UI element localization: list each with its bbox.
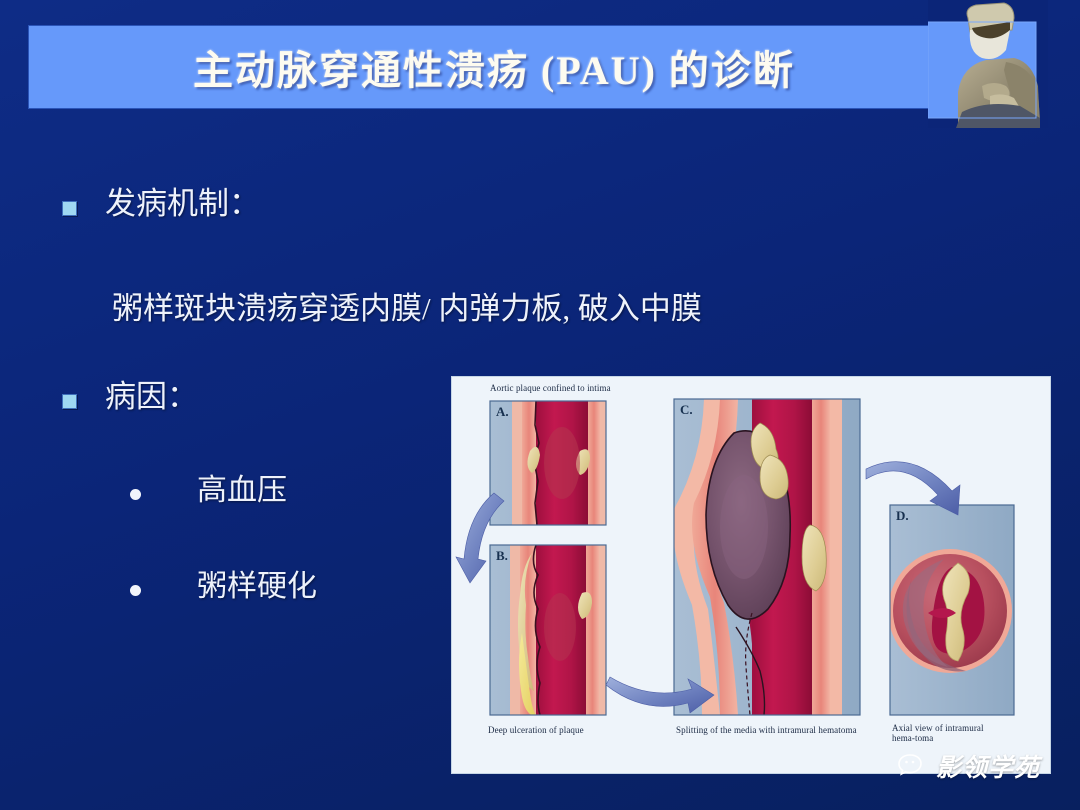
bullet-mechanism-label: 发病机制： [105, 185, 260, 224]
figure-artwork [452, 377, 1050, 773]
page-title: 主动脉穿通性溃疡 (PAU) 的诊断 [28, 25, 1030, 109]
mechanism-detail-text: 粥样斑块溃疡穿透内膜/ 内弹力板, 破入中膜 [112, 283, 702, 328]
wechat-watermark: 影领学苑 [898, 748, 1040, 784]
dot-bullet-icon [130, 585, 141, 596]
sub-bullet-atherosclerosis-label: 粥样硬化 [197, 568, 317, 606]
panel-d-caption: Axial view of intramural hema-toma [892, 723, 984, 744]
wechat-icon [898, 753, 930, 779]
panel-letter-c: C. [680, 402, 693, 418]
bullet-etiology-label: 病因： [105, 378, 198, 417]
panel-letter-a: A. [496, 404, 509, 420]
square-bullet-icon [62, 394, 77, 409]
panel-letter-b: B. [496, 548, 508, 564]
panel-b-caption: Deep ulceration of plaque [488, 725, 584, 735]
sub-bullet-hypertension-label: 高血压 [197, 472, 287, 510]
sub-bullet-hypertension: 高血压 [130, 472, 287, 510]
bullet-mechanism: 发病机制： [62, 185, 260, 224]
pau-illustration-figure: Aortic plaque confined to intima [452, 377, 1050, 773]
sub-bullet-atherosclerosis: 粥样硬化 [130, 568, 317, 606]
bullet-etiology: 病因： [62, 378, 198, 417]
panel-letter-d: D. [896, 508, 909, 524]
dot-bullet-icon [130, 489, 141, 500]
slide-canvas: 主动脉穿通性溃疡 (PAU) 的诊断 [0, 0, 1080, 810]
panel-c-caption: Splitting of the media with intramural h… [676, 725, 857, 735]
title-banner: 主动脉穿通性溃疡 (PAU) 的诊断 [28, 25, 1030, 109]
square-bullet-icon [62, 201, 77, 216]
surgeon-photo [928, 0, 1048, 128]
watermark-text: 影领学苑 [936, 748, 1040, 784]
